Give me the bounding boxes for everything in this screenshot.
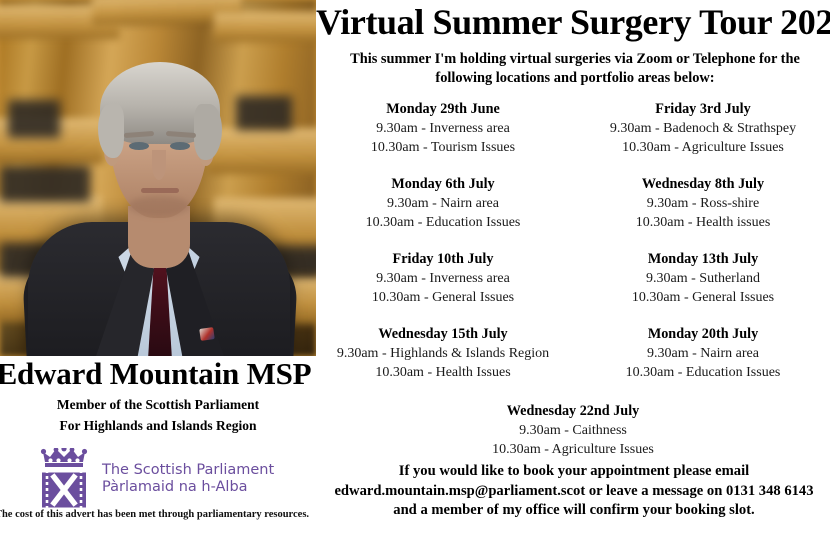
session-date: Friday 10th July [316,250,570,269]
chin-shadow [128,196,190,216]
session-date: Monday 20th July [576,325,830,344]
poster-intro: This summer I'm holding virtual surgerie… [330,50,820,88]
logo-line-gaelic: Pàrlamaid na h-Alba [102,479,274,496]
session-slot: 10.30am - General Issues [576,288,830,307]
session-slot: 9.30am - Sutherland [576,269,830,288]
poster-title: Virtual Summer Surgery Tour 2020 [316,2,830,42]
session-entry: Friday 10th July9.30am - Inverness area1… [316,250,570,325]
session-entry: Monday 29th June9.30am - Inverness area1… [316,100,570,175]
session-slot: 9.30am - Ross-shire [576,194,830,213]
name-block: Edward Mountain MSP Member of the Scotti… [0,356,316,434]
session-slot: 10.30am - Agriculture Issues [316,440,830,459]
session-date: Monday 6th July [316,175,570,194]
session-slot: 10.30am - Agriculture Issues [576,138,830,157]
session-date: Wednesday 15th July [316,325,570,344]
hair-side-left [98,104,124,158]
session-date: Monday 29th June [316,100,570,119]
session-slot: 10.30am - Health issues [576,213,830,232]
logo-line-english: The Scottish Parliament [102,462,274,479]
lapel-pin-icon [199,327,215,341]
session-entry: Wednesday 15th July9.30am - Highlands & … [316,325,570,400]
mouth [141,188,179,193]
session-slot: 10.30am - General Issues [316,288,570,307]
session-entry: Monday 13th July9.30am - Sutherland10.30… [576,250,830,325]
session-date: Monday 13th July [576,250,830,269]
session-slot: 10.30am - Health Issues [316,363,570,382]
hair-side-right [194,104,222,160]
session-slot: 9.30am - Highlands & Islands Region [316,344,570,363]
session-slot: 9.30am - Nairn area [316,194,570,213]
session-entry: Monday 20th July9.30am - Nairn area10.30… [576,325,830,400]
session-slot: 9.30am - Inverness area [316,119,570,138]
nose [152,150,166,180]
session-slot: 9.30am - Nairn area [576,344,830,363]
msp-role-line-1: Member of the Scottish Parliament [0,396,316,413]
logo-wordmark: The Scottish Parliament Pàrlamaid na h-A… [102,462,274,496]
session-date: Wednesday 22nd July [316,402,830,421]
session-slot: 10.30am - Education Issues [576,363,830,382]
session-slot: 9.30am - Caithness [316,421,830,440]
session-slot: 9.30am - Inverness area [316,269,570,288]
msp-role-line-2: For Highlands and Islands Region [0,417,316,434]
msp-portrait-photo [0,0,316,356]
session-date: Wednesday 8th July [576,175,830,194]
eye-left [129,142,149,150]
session-date: Friday 3rd July [576,100,830,119]
session-slot: 10.30am - Education Issues [316,213,570,232]
session-entry: Wednesday 22nd July9.30am - Caithness10.… [316,400,830,469]
session-slot: 9.30am - Badenoch & Strathspey [576,119,830,138]
session-slot: 10.30am - Tourism Issues [316,138,570,157]
surgery-tour-poster: Edward Mountain MSP Member of the Scotti… [0,0,830,540]
crown-and-saltire-icon [36,448,92,510]
eye-right [170,142,190,150]
msp-figure [0,0,316,356]
session-list: Monday 29th June9.30am - Inverness area1… [316,100,830,469]
msp-name: Edward Mountain MSP [0,356,316,392]
session-entry: Friday 3rd July9.30am - Badenoch & Strat… [576,100,830,175]
booking-instructions: If you would like to book your appointme… [324,462,824,521]
session-entry: Monday 6th July9.30am - Nairn area10.30a… [316,175,570,250]
session-entry: Wednesday 8th July9.30am - Ross-shire10.… [576,175,830,250]
funding-disclaimer: The cost of this advert has been met thr… [0,509,310,520]
schedule-panel: Virtual Summer Surgery Tour 2020 This su… [316,0,830,540]
profile-panel: Edward Mountain MSP Member of the Scotti… [0,0,316,540]
session-grid: Monday 29th June9.30am - Inverness area1… [316,100,830,469]
scottish-parliament-logo: The Scottish Parliament Pàrlamaid na h-A… [36,448,274,510]
